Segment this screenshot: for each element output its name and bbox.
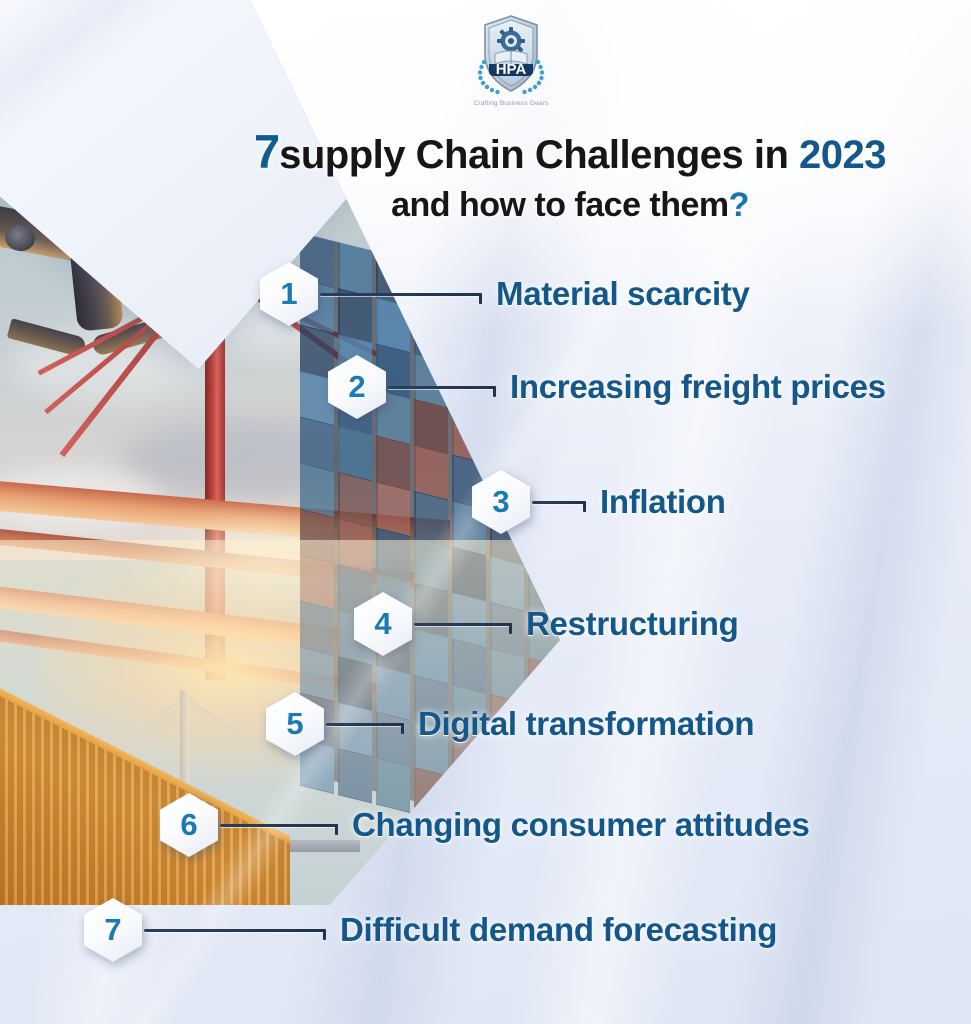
connector-line: [414, 618, 512, 630]
list-item[interactable]: 7 Difficult demand forecasting: [84, 898, 777, 962]
badge-hexagon: 2: [328, 355, 386, 419]
list-item[interactable]: 5 Digital transformation: [266, 692, 754, 756]
badge-number: 3: [492, 484, 509, 520]
title-year: 2023: [799, 133, 886, 177]
item-label[interactable]: Material scarcity: [496, 275, 750, 313]
list-item[interactable]: 3 Inflation: [472, 470, 726, 534]
badge-number: 5: [286, 706, 303, 742]
connector-line: [220, 819, 338, 831]
title-subtext: and how to face them: [391, 186, 729, 224]
badge-hexagon: 6: [160, 793, 218, 857]
title-text-rest: supply Chain Challenges in: [279, 133, 799, 177]
list-item[interactable]: 4 Restructuring: [354, 592, 738, 656]
title-line-2: and how to face them?: [200, 186, 940, 224]
item-label[interactable]: Difficult demand forecasting: [340, 911, 777, 949]
title-line-1: 7supply Chain Challenges in 2023: [200, 126, 940, 179]
item-label[interactable]: Changing consumer attitudes: [352, 806, 810, 844]
list-item[interactable]: 6 Changing consumer attitudes: [160, 793, 810, 857]
badge-number: 1: [280, 276, 297, 312]
svg-text:HPA: HPA: [496, 61, 527, 78]
badge-hexagon: 5: [266, 692, 324, 756]
connector-line: [144, 924, 326, 936]
item-label[interactable]: Inflation: [600, 483, 726, 521]
page-title: 7supply Chain Challenges in 2023 and how…: [200, 126, 940, 224]
infographic-canvas: HPA Crafting Business Gears 7supply Chai…: [0, 0, 971, 1024]
list-item[interactable]: 1 Material scarcity: [260, 262, 750, 326]
badge-hexagon: 4: [354, 592, 412, 656]
title-question-mark: ?: [729, 186, 749, 224]
badge-number: 6: [180, 807, 197, 843]
badge-number: 7: [104, 912, 121, 948]
connector-line: [388, 381, 496, 393]
badge-number: 4: [374, 606, 391, 642]
connector-line: [320, 288, 482, 300]
badge-hexagon: 7: [84, 898, 142, 962]
list-item[interactable]: 2 Increasing freight prices: [328, 355, 886, 419]
item-label[interactable]: Restructuring: [526, 605, 738, 643]
brand-logo[interactable]: HPA Crafting Business Gears: [470, 14, 552, 120]
title-number: 7: [254, 125, 279, 178]
badge-number: 2: [348, 369, 365, 405]
brand-tagline: Crafting Business Gears: [470, 100, 552, 107]
item-label[interactable]: Increasing freight prices: [510, 368, 886, 406]
badge-hexagon: 1: [260, 262, 318, 326]
badge-hexagon: 3: [472, 470, 530, 534]
shield-logo-icon: HPA: [475, 14, 547, 98]
item-label[interactable]: Digital transformation: [418, 705, 754, 743]
connector-line: [532, 496, 586, 508]
connector-line: [326, 718, 404, 730]
